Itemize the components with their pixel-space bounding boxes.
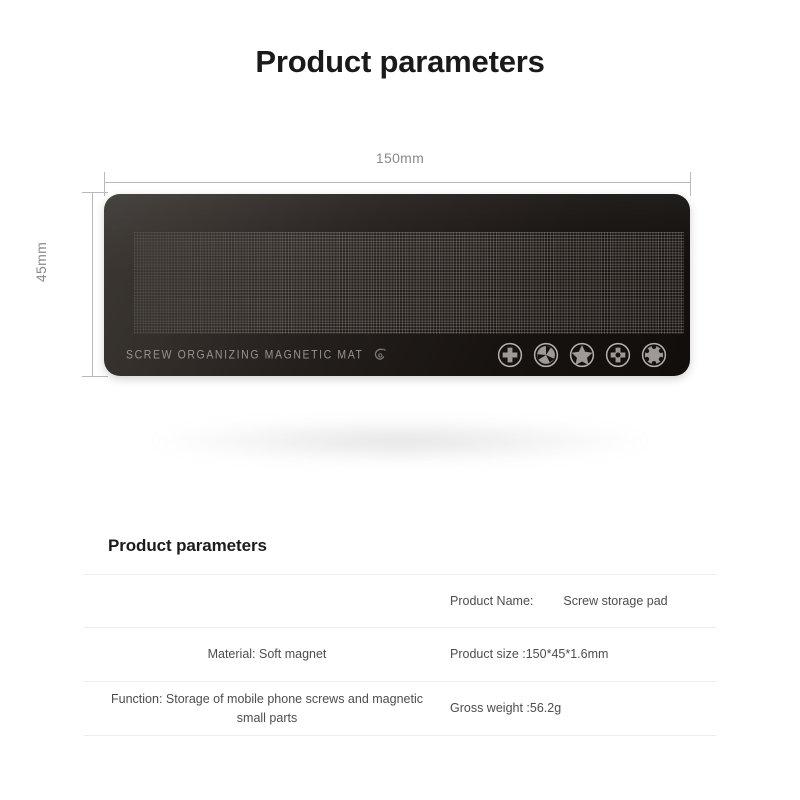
spec-value-product-name: Screw storage pad <box>563 592 667 610</box>
spec-key-product-name: Product Name: <box>450 592 533 610</box>
product-shadow <box>150 418 650 464</box>
dimension-width-tick-right <box>690 172 691 196</box>
dimension-height-line <box>92 192 93 376</box>
spec-left-cell-material: Material: Soft magnet <box>84 639 450 669</box>
torx-screw-head-icon <box>640 341 668 369</box>
spec-key-product-size: Product size :150*45*1.6mm <box>450 645 608 663</box>
phillips-screw-head-icon <box>496 341 524 369</box>
spec-left-cell <box>84 595 450 607</box>
table-row: Material: Soft magnet Product size :150*… <box>84 628 716 682</box>
spec-right-cell: Product size :150*45*1.6mm <box>450 639 716 669</box>
tri-wing-screw-head-icon <box>532 341 560 369</box>
mat-brand-lockup: SCREW ORGANIZING MAGNETIC MAT <box>126 347 387 362</box>
magnetic-mat-product-image: SCREW ORGANIZING MAGNETIC MAT <box>104 194 690 376</box>
product-figure: 150mm 45mm SCREW ORGANIZING MAGNETIC MAT <box>0 150 800 500</box>
dimension-height-tick-top <box>82 192 108 193</box>
dimension-width-line <box>104 182 690 183</box>
specifications-table: Product Name: Screw storage pad Material… <box>84 574 716 736</box>
table-row: Function: Storage of mobile phone screws… <box>84 682 716 736</box>
magnet-swirl-logo-icon <box>372 347 387 362</box>
spec-key-gross-weight: Gross weight :56.2g <box>450 699 561 717</box>
spec-right-cell: Product Name: Screw storage pad <box>450 586 716 616</box>
spec-right-cell: Gross weight :56.2g <box>450 693 716 723</box>
dimension-width-label: 150mm <box>330 150 470 166</box>
mat-brand-text: SCREW ORGANIZING MAGNETIC MAT <box>126 348 364 361</box>
mat-grid-texture <box>134 232 684 334</box>
screw-head-icon-row <box>496 341 668 369</box>
table-row: Product Name: Screw storage pad <box>84 574 716 628</box>
spec-left-cell-function: Function: Storage of mobile phone screws… <box>84 684 450 732</box>
cross-dot-screw-head-icon <box>604 341 632 369</box>
product-parameters-page: Product parameters 150mm 45mm SCREW ORGA… <box>0 0 800 800</box>
specifications-heading: Product parameters <box>108 536 267 556</box>
pentalobe-star-screw-head-icon <box>568 341 596 369</box>
page-title: Product parameters <box>0 44 800 80</box>
dimension-height-label: 45mm <box>33 217 49 307</box>
dimension-height-tick-bottom <box>82 376 108 377</box>
